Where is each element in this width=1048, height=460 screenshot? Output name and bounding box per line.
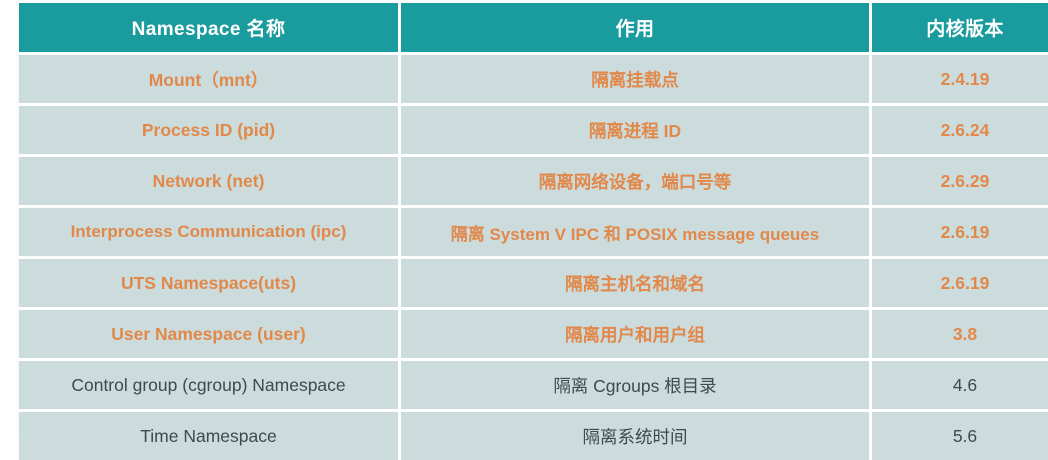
cell-purpose: 隔离系统时间 <box>401 409 872 460</box>
column-header-namespace-name: Namespace 名称 <box>19 3 401 52</box>
cell-purpose: 隔离网络设备，端口号等 <box>401 154 872 205</box>
table-row: Control group (cgroup) Namespace 隔离 Cgro… <box>19 358 1048 409</box>
table-row: Network (net) 隔离网络设备，端口号等 2.6.29 <box>19 154 1048 205</box>
table-row: Process ID (pid) 隔离进程 ID 2.6.24 <box>19 103 1048 154</box>
cell-purpose: 隔离挂载点 <box>401 52 872 103</box>
cell-namespace-name: Interprocess Communication (ipc) <box>19 205 401 256</box>
table-header-row: Namespace 名称 作用 内核版本 <box>19 3 1048 52</box>
cell-namespace-name: User Namespace (user) <box>19 307 401 358</box>
cell-namespace-name: Mount（mnt） <box>19 52 401 103</box>
cell-kernel-version: 4.6 <box>872 358 1048 409</box>
table-row: Time Namespace 隔离系统时间 5.6 <box>19 409 1048 460</box>
cell-kernel-version: 2.6.19 <box>872 205 1048 256</box>
cell-purpose: 隔离 System V IPC 和 POSIX message queues <box>401 205 872 256</box>
cell-namespace-name: UTS Namespace(uts) <box>19 256 401 307</box>
cell-purpose: 隔离进程 ID <box>401 103 872 154</box>
cell-kernel-version: 2.6.19 <box>872 256 1048 307</box>
namespace-table-container: Namespace 名称 作用 内核版本 Mount（mnt） 隔离挂载点 2.… <box>19 3 1016 437</box>
table-header: Namespace 名称 作用 内核版本 <box>19 3 1048 52</box>
column-header-kernel-version: 内核版本 <box>872 3 1048 52</box>
cell-kernel-version: 2.6.24 <box>872 103 1048 154</box>
cell-purpose: 隔离 Cgroups 根目录 <box>401 358 872 409</box>
column-header-purpose: 作用 <box>401 3 872 52</box>
cell-kernel-version: 5.6 <box>872 409 1048 460</box>
cell-purpose: 隔离用户和用户组 <box>401 307 872 358</box>
cell-namespace-name: Network (net) <box>19 154 401 205</box>
cell-kernel-version: 2.4.19 <box>872 52 1048 103</box>
cell-namespace-name: Process ID (pid) <box>19 103 401 154</box>
cell-kernel-version: 2.6.29 <box>872 154 1048 205</box>
cell-namespace-name: Control group (cgroup) Namespace <box>19 358 401 409</box>
table-row: User Namespace (user) 隔离用户和用户组 3.8 <box>19 307 1048 358</box>
cell-kernel-version: 3.8 <box>872 307 1048 358</box>
cell-purpose: 隔离主机名和域名 <box>401 256 872 307</box>
table-row: Interprocess Communication (ipc) 隔离 Syst… <box>19 205 1048 256</box>
table-row: UTS Namespace(uts) 隔离主机名和域名 2.6.19 <box>19 256 1048 307</box>
table-row: Mount（mnt） 隔离挂载点 2.4.19 <box>19 52 1048 103</box>
cell-namespace-name: Time Namespace <box>19 409 401 460</box>
table-body: Mount（mnt） 隔离挂载点 2.4.19 Process ID (pid)… <box>19 52 1048 460</box>
namespace-table: Namespace 名称 作用 内核版本 Mount（mnt） 隔离挂载点 2.… <box>19 3 1048 460</box>
